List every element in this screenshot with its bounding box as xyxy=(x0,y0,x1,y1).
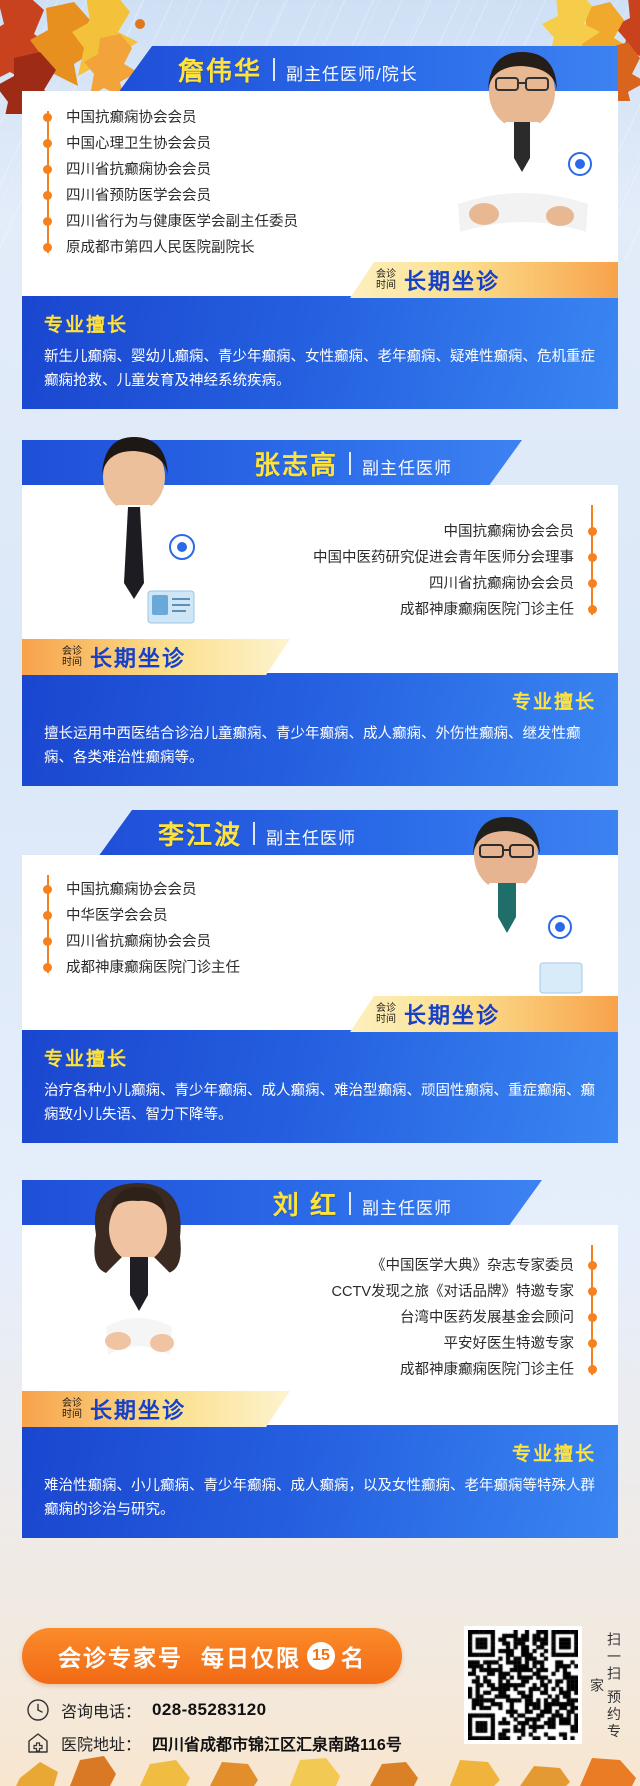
badge-label-bottom: 时间 xyxy=(376,280,396,291)
doctor-3-credential-panel: 中国抗癫痫协会会员 中华医学会会员 四川省抗癫痫协会会员 成都神康癫痫医院门诊主… xyxy=(22,855,618,1030)
doctor-1-credential-panel: 中国抗癫痫协会会员 中国心理卫生协会会员 四川省抗癫痫协会会员 四川省预防医学会… xyxy=(22,91,618,296)
doctor-1-specialty-text: 新生儿癫痫、婴幼儿癫痫、青少年癫痫、女性癫痫、老年癫痫、疑难性癫痫、危机重症癫痫… xyxy=(44,345,596,393)
doctor-2-photo xyxy=(40,433,240,673)
doctor-4-photo xyxy=(44,1177,234,1425)
doctor-2-specialty-heading: 专业擅长 xyxy=(44,687,596,714)
doctor-4-title: 副主任医师 xyxy=(362,1194,452,1219)
doctor-4-credential-panel: 《中国医学大典》杂志专家委员 CCTV发现之旅《对话品牌》特邀专家 台湾中医药发… xyxy=(22,1225,618,1425)
cta-right-label: 名 xyxy=(341,1639,366,1673)
doctor-3-consult-time-badge: 会诊 时间 长期坐诊 xyxy=(350,996,618,1032)
autumn-leaf-decoration-bottom xyxy=(0,1716,640,1786)
doctor-1-consult-time-value: 长期坐诊 xyxy=(404,264,500,296)
badge-label-top: 会诊 xyxy=(62,1398,82,1409)
doctor-4-specialty-block: 专业擅长 难治性癫痫、小儿癫痫、青少年癫痫、成人癫痫，以及女性癫痫、老年癫痫等特… xyxy=(22,1425,618,1538)
name-divider xyxy=(349,452,351,475)
doctor-1-specialty-block: 专业擅长 新生儿癫痫、婴幼儿癫痫、青少年癫痫、女性癫痫、老年癫痫、疑难性癫痫、危… xyxy=(22,296,618,409)
doctor-1-name: 詹伟华 xyxy=(178,51,262,88)
cta-mid-label: 每日仅限 xyxy=(201,1639,301,1673)
doctor-card-4: 刘 红 副主任医师 《中国医学大典》杂志专家委员 CCTV发现之旅《对话品牌》特… xyxy=(22,1180,618,1538)
doctor-2-specialty-block: 专业擅长 擅长运用中西医结合诊治儿童癫痫、青少年癫痫、成人癫痫、外伤性癫痫、继发… xyxy=(22,673,618,786)
doctor-3-title: 副主任医师 xyxy=(266,824,356,849)
doctor-card-2: 张志高 副主任医师 中国抗癫痫协会会员 中国中医药研究促进会青年医师分会理事 四… xyxy=(22,440,618,786)
doctor-1-consult-time-badge: 会诊 时间 长期坐诊 xyxy=(350,262,618,298)
footer-contact-section: 会诊专家号 每日仅限 15 名 咨询电话： 028-85283120 医院地址：… xyxy=(0,1606,640,1786)
cta-left-label: 会诊专家号 xyxy=(58,1639,183,1673)
doctor-2-specialty-text: 擅长运用中西医结合诊治儿童癫痫、青少年癫痫、成人癫痫、外伤性癫痫、继发性癫痫、各… xyxy=(44,722,596,770)
doctor-3-specialty-heading: 专业擅长 xyxy=(44,1044,596,1071)
doctor-card-3: 李江波 副主任医师 中国抗癫痫协会会员 中华医学会会员 四川省抗癫痫协会会员 成… xyxy=(22,810,618,1143)
badge-label-top: 会诊 xyxy=(62,646,82,657)
doctor-1-specialty-heading: 专业擅长 xyxy=(44,310,596,337)
consult-quota-button[interactable]: 会诊专家号 每日仅限 15 名 xyxy=(22,1628,402,1684)
badge-label-top: 会诊 xyxy=(376,269,396,280)
cta-quota-count: 15 xyxy=(307,1642,335,1670)
doctor-2-consult-time-value: 长期坐诊 xyxy=(90,641,186,673)
doctor-4-consult-time-value: 长期坐诊 xyxy=(90,1393,186,1425)
doctor-4-consult-time-badge: 会诊 时间 长期坐诊 xyxy=(22,1391,290,1427)
doctor-4-specialty-text: 难治性癫痫、小儿癫痫、青少年癫痫、成人癫痫，以及女性癫痫、老年癫痫等特殊人群癫痫… xyxy=(44,1474,596,1522)
doctor-2-credential-panel: 中国抗癫痫协会会员 中国中医药研究促进会青年医师分会理事 四川省抗癫痫协会会员 … xyxy=(22,485,618,673)
badge-label-bottom: 时间 xyxy=(62,657,82,668)
doctor-4-name: 刘 红 xyxy=(273,1185,338,1222)
name-divider xyxy=(349,1192,351,1215)
doctor-2-consult-time-badge: 会诊 时间 长期坐诊 xyxy=(22,639,290,675)
doctor-1-photo xyxy=(418,46,618,296)
doctor-1-title: 副主任医师/院长 xyxy=(286,60,418,85)
name-divider xyxy=(273,58,275,81)
doctor-4-specialty-heading: 专业擅长 xyxy=(44,1439,596,1466)
badge-label-bottom: 时间 xyxy=(376,1014,396,1025)
badge-label-top: 会诊 xyxy=(376,1003,396,1014)
doctor-card-1: 詹伟华 副主任医师/院长 中国抗癫痫协会会员 中国心理卫生协会会员 四川省抗癫痫… xyxy=(22,46,618,409)
doctor-3-specialty-block: 专业擅长 治疗各种小儿癫痫、青少年癫痫、成人癫痫、难治型癫痫、顽固性癫痫、重症癫… xyxy=(22,1030,618,1143)
doctor-3-specialty-text: 治疗各种小儿癫痫、青少年癫痫、成人癫痫、难治型癫痫、顽固性癫痫、重症癫痫、癫痫致… xyxy=(44,1079,596,1127)
doctor-3-consult-time-value: 长期坐诊 xyxy=(404,998,500,1030)
name-divider xyxy=(253,822,255,845)
doctor-2-title: 副主任医师 xyxy=(362,454,452,479)
badge-label-bottom: 时间 xyxy=(62,1409,82,1420)
doctor-3-name: 李江波 xyxy=(158,815,242,852)
doctor-2-name: 张志高 xyxy=(254,445,338,482)
